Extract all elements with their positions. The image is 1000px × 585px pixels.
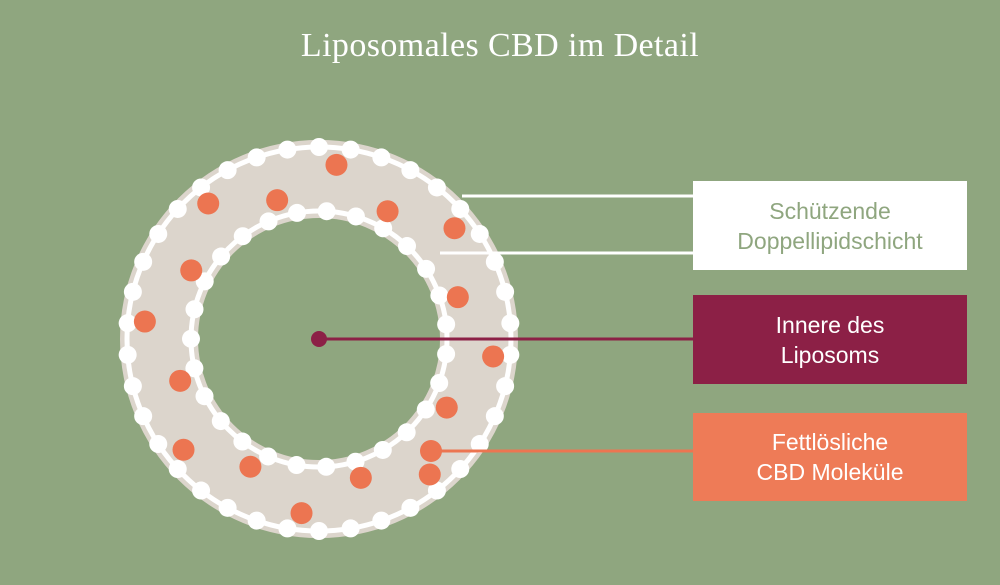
callout-interior-line1: Innere des xyxy=(776,310,885,340)
lipid-head-outer xyxy=(119,346,137,364)
lipid-head-outer xyxy=(428,178,446,196)
callout-bilayer[interactable]: Schützende Doppellipidschicht xyxy=(693,181,967,270)
lipid-head-outer xyxy=(496,283,514,301)
callout-bilayer-line2: Doppellipidschicht xyxy=(737,226,922,256)
lipid-head-outer xyxy=(342,141,360,159)
lipid-head-outer xyxy=(401,499,419,517)
lipid-head-outer xyxy=(342,519,360,537)
lipid-head-outer xyxy=(169,460,187,478)
lipid-head-outer xyxy=(372,512,390,530)
lipid-head-inner xyxy=(186,300,204,318)
lipid-head-outer xyxy=(119,314,137,332)
callout-molecules[interactable]: Fettlösliche CBD Moleküle xyxy=(693,413,967,501)
liposome-graphic xyxy=(119,138,693,540)
cbd-molecule xyxy=(419,463,441,485)
lipid-head-inner xyxy=(430,286,448,304)
callout-molecules-line1: Fettlösliche xyxy=(772,427,888,457)
cbd-molecule xyxy=(180,259,202,281)
lipid-head-outer xyxy=(471,225,489,243)
lipid-head-inner xyxy=(398,423,416,441)
lipid-head-outer xyxy=(134,253,152,271)
lipid-head-outer xyxy=(501,314,519,332)
lipid-head-inner xyxy=(288,456,306,474)
lipid-head-inner xyxy=(417,260,435,278)
lipid-head-inner xyxy=(398,237,416,255)
lipid-head-outer xyxy=(248,148,266,166)
lipid-head-outer xyxy=(501,346,519,364)
lipid-head-inner xyxy=(430,374,448,392)
cbd-molecule xyxy=(436,397,458,419)
lipid-head-outer xyxy=(124,377,142,395)
cbd-molecule xyxy=(291,502,313,524)
callout-interior-line2: Liposoms xyxy=(781,340,879,370)
lipid-head-outer xyxy=(401,161,419,179)
lipid-head-outer xyxy=(192,482,210,500)
lipid-head-inner xyxy=(182,330,200,348)
lipid-head-outer xyxy=(169,200,187,218)
lipid-head-inner xyxy=(374,441,392,459)
cbd-molecule xyxy=(443,217,465,239)
interior-center-marker xyxy=(311,331,327,347)
lipid-head-outer xyxy=(124,283,142,301)
lipid-head-outer xyxy=(451,200,469,218)
lipid-head-inner xyxy=(417,401,435,419)
lipid-head-outer xyxy=(134,407,152,425)
cbd-molecule-callout-anchor xyxy=(420,440,442,462)
lipid-head-outer xyxy=(219,499,237,517)
lipid-head-outer xyxy=(486,253,504,271)
cbd-molecule xyxy=(325,154,347,176)
callout-interior[interactable]: Innere des Liposoms xyxy=(693,295,967,384)
lipid-head-outer xyxy=(278,519,296,537)
callout-bilayer-line1: Schützende xyxy=(769,196,890,226)
lipid-head-outer xyxy=(310,522,328,540)
cbd-molecule xyxy=(482,345,504,367)
lipid-head-inner xyxy=(212,248,230,266)
lipid-head-inner xyxy=(259,447,277,465)
lipid-head-inner xyxy=(437,315,455,333)
lipid-head-outer xyxy=(486,407,504,425)
lipid-head-inner xyxy=(212,412,230,430)
cbd-molecule xyxy=(169,370,191,392)
cbd-molecule xyxy=(134,311,156,333)
lipid-head-inner xyxy=(318,202,336,220)
lipid-head-outer xyxy=(451,460,469,478)
lipid-head-outer xyxy=(372,148,390,166)
cbd-molecule xyxy=(266,189,288,211)
lipid-head-outer xyxy=(149,225,167,243)
lipid-head-outer xyxy=(496,377,514,395)
lipid-head-inner xyxy=(317,458,335,476)
cbd-molecule xyxy=(173,439,195,461)
diagram-canvas: Liposomales CBD im Detail Schützende Dop… xyxy=(0,0,1000,585)
lipid-head-inner xyxy=(233,433,251,451)
lipid-head-inner xyxy=(260,212,278,230)
callout-molecules-line2: CBD Moleküle xyxy=(757,457,904,487)
lipid-head-outer xyxy=(149,435,167,453)
cbd-molecule xyxy=(239,456,261,478)
cbd-molecule xyxy=(197,193,219,215)
lipid-head-outer xyxy=(248,512,266,530)
lipid-head-inner xyxy=(437,345,455,363)
lipid-head-outer xyxy=(278,141,296,159)
lipid-head-inner xyxy=(234,227,252,245)
lipid-head-inner xyxy=(196,387,214,405)
cbd-molecule xyxy=(350,467,372,489)
cbd-molecule xyxy=(377,200,399,222)
lipid-head-outer xyxy=(219,161,237,179)
lipid-head-inner xyxy=(288,204,306,222)
lipid-head-outer xyxy=(310,138,328,156)
lipid-head-inner xyxy=(347,207,365,225)
cbd-molecule xyxy=(447,286,469,308)
